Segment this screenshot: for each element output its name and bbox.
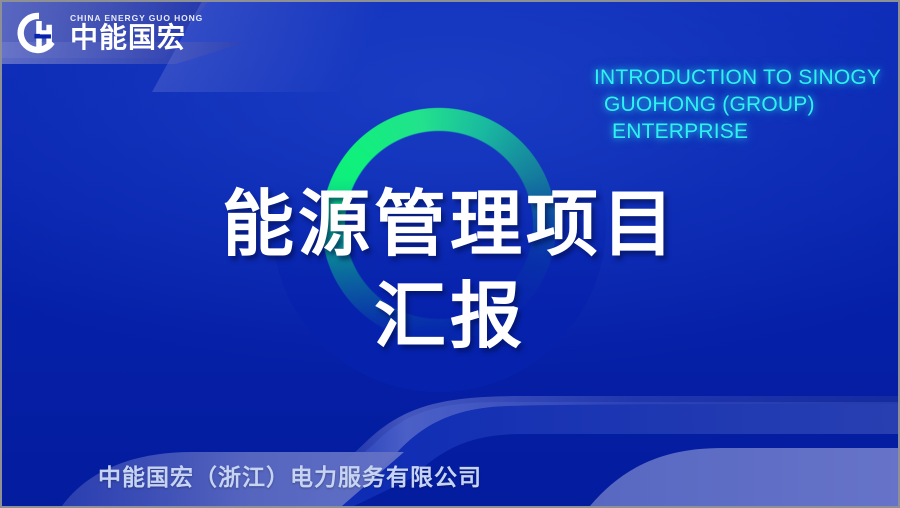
logo-chinese-name: 中能国宏 bbox=[70, 24, 203, 52]
english-headline: INTRODUCTION TO SINOGY GUOHONG (GROUP) E… bbox=[594, 64, 900, 145]
logo-wordmark: CHINA ENERGY GUO HONG 中能国宏 bbox=[70, 14, 203, 53]
footer-company-name: 中能国宏（浙江）电力服务有限公司 bbox=[98, 458, 482, 492]
english-headline-line3: ENTERPRISE bbox=[594, 118, 900, 145]
english-headline-line1: INTRODUCTION TO SINOGY bbox=[594, 64, 900, 91]
slide-title: 能源管理项目 汇报 bbox=[2, 184, 898, 356]
presentation-slide: CHINA ENERGY GUO HONG 中能国宏 INTRODUCTION … bbox=[0, 0, 900, 508]
company-logo: CHINA ENERGY GUO HONG 中能国宏 bbox=[16, 10, 203, 56]
logo-emblem-icon bbox=[16, 10, 62, 56]
english-headline-line2: GUOHONG (GROUP) bbox=[594, 91, 900, 118]
slide-title-line2: 汇报 bbox=[2, 276, 898, 356]
slide-title-line1: 能源管理项目 bbox=[2, 184, 898, 264]
